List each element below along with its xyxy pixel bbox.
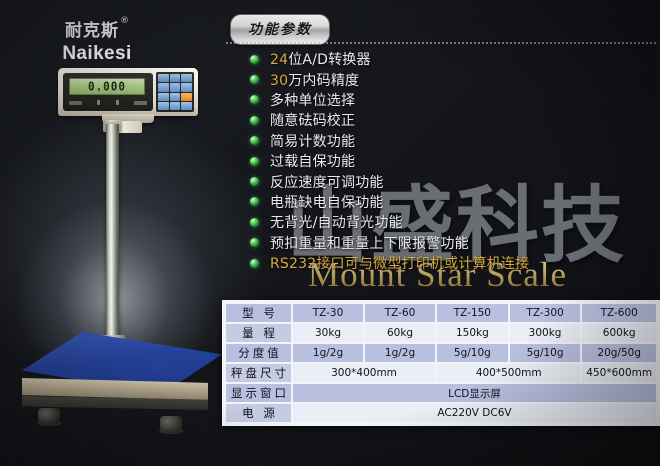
vignette-overlay (0, 0, 660, 466)
